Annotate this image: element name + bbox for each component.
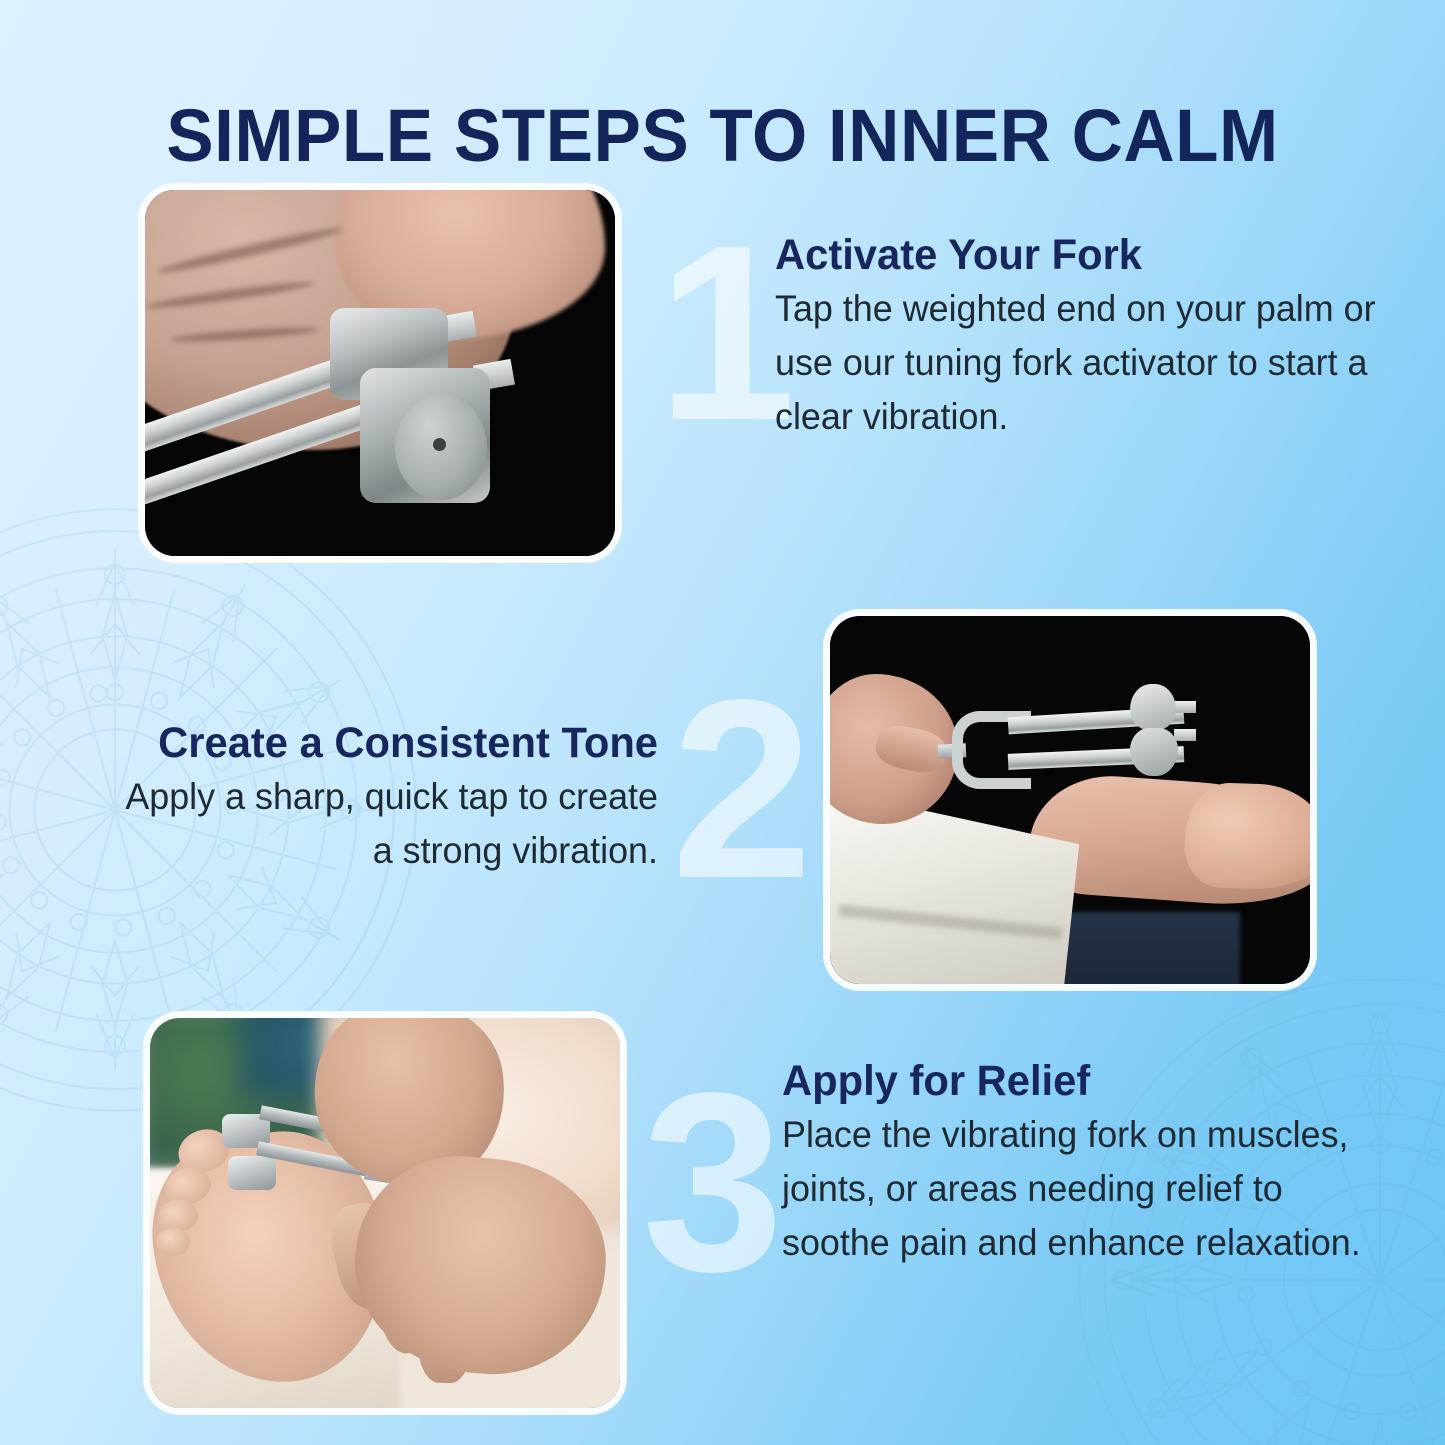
step-3-heading: Apply for Relief xyxy=(782,1056,1383,1106)
step-2-number: 2 xyxy=(671,685,813,894)
step-1-heading: Activate Your Fork xyxy=(775,230,1376,280)
step-3-photo xyxy=(150,1018,620,1408)
step-3-number: 3 xyxy=(642,1078,784,1287)
step-2-block: 2 Create a Consistent Tone Apply a sharp… xyxy=(80,718,658,878)
step-3-body: Place the vibrating fork on muscles, joi… xyxy=(782,1108,1383,1270)
step-2-body: Apply a sharp, quick tap to create a str… xyxy=(97,770,658,878)
step-1-photo xyxy=(145,190,615,556)
step-1-block: 1 Activate Your Fork Tap the weighted en… xyxy=(775,230,1395,444)
step-3-block: 3 Apply for Relief Place the vibrating f… xyxy=(782,1056,1402,1270)
step-2-photo xyxy=(830,616,1310,984)
step-1-body: Tap the weighted end on your palm or use… xyxy=(775,282,1376,444)
infographic-poster: SIMPLE STEPS TO INNER CALM xyxy=(0,0,1445,1445)
step-2-heading: Create a Consistent Tone xyxy=(97,718,658,768)
page-title: SIMPLE STEPS TO INNER CALM xyxy=(29,96,1416,176)
